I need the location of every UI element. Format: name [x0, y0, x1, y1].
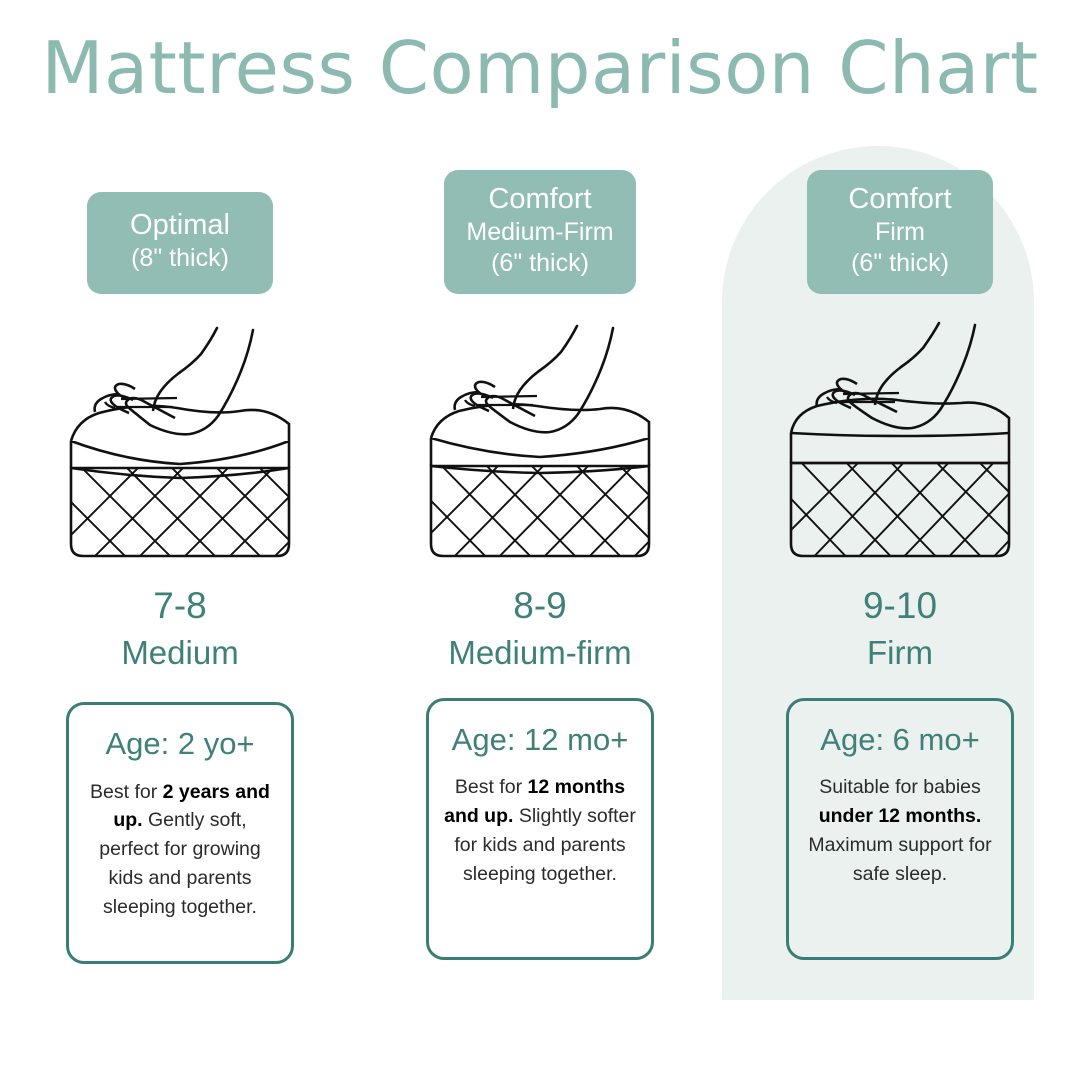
badge-thickness: (6" thick) — [466, 248, 613, 279]
badge-subtitle: Medium-Firm — [466, 217, 613, 248]
info-card-comfort-firm: Age: 6 mo+ Suitable for babies under 12 … — [786, 698, 1014, 960]
firmness-label: Medium-firm — [448, 634, 631, 673]
card-body-text: Best for 12 months and up. Slightly soft… — [443, 773, 637, 888]
firmness-range: 7-8 — [121, 584, 238, 628]
badge-optimal: Optimal (8" thick) — [87, 192, 273, 294]
firmness-label: Firm — [863, 634, 937, 673]
firmness-comfort-firm: 9-10 Firm — [863, 584, 937, 673]
card-body-suffix: Maximum support for safe sleep. — [808, 834, 991, 885]
column-comfort-medium-firm: Comfort Medium-Firm (6" thick) — [360, 170, 720, 1000]
card-age-label: Age: 12 mo+ — [452, 723, 629, 757]
badge-thickness: (6" thick) — [829, 248, 971, 279]
badge-title: Comfort — [466, 182, 613, 217]
column-optimal: Optimal (8" thick) — [0, 170, 360, 1000]
card-body-prefix: Suitable for babies — [819, 776, 981, 798]
firmness-label: Medium — [121, 634, 238, 673]
badge-comfort-medium-firm: Comfort Medium-Firm (6" thick) — [444, 170, 635, 294]
badge-subtitle: (8" thick) — [109, 243, 251, 274]
infographic-page: Mattress Comparison Chart Optimal (8" th… — [0, 0, 1080, 1080]
badge-comfort-firm: Comfort Firm (6" thick) — [807, 170, 993, 294]
info-card-optimal: Age: 2 yo+ Best for 2 years and up. Gent… — [66, 702, 294, 964]
card-age-label: Age: 6 mo+ — [820, 723, 979, 757]
card-body-text: Suitable for babies under 12 months. Max… — [803, 773, 997, 888]
card-age-label: Age: 2 yo+ — [105, 727, 254, 761]
mattress-illustration-comfort-firm — [775, 316, 1025, 566]
badge-subtitle: Firm — [829, 217, 971, 248]
firmness-range: 9-10 — [863, 584, 937, 628]
firmness-optimal: 7-8 Medium — [121, 584, 238, 673]
card-body-prefix: Best for — [90, 781, 163, 803]
comparison-columns: Optimal (8" thick) — [0, 170, 1080, 1000]
mattress-illustration-comfort-medium-firm — [415, 316, 665, 566]
firmness-range: 8-9 — [448, 584, 631, 628]
info-card-comfort-medium-firm: Age: 12 mo+ Best for 12 months and up. S… — [426, 698, 654, 960]
column-comfort-firm: Comfort Firm (6" thick) — [720, 170, 1080, 1000]
badge-title: Optimal — [109, 208, 251, 243]
firmness-comfort-medium-firm: 8-9 Medium-firm — [448, 584, 631, 673]
card-body-text: Best for 2 years and up. Gently soft, pe… — [83, 778, 277, 922]
badge-title: Comfort — [829, 182, 971, 217]
card-body-prefix: Best for — [455, 776, 528, 798]
mattress-illustration-optimal — [55, 316, 305, 566]
page-title: Mattress Comparison Chart — [0, 26, 1080, 110]
card-body-bold: under 12 months. — [819, 805, 982, 827]
